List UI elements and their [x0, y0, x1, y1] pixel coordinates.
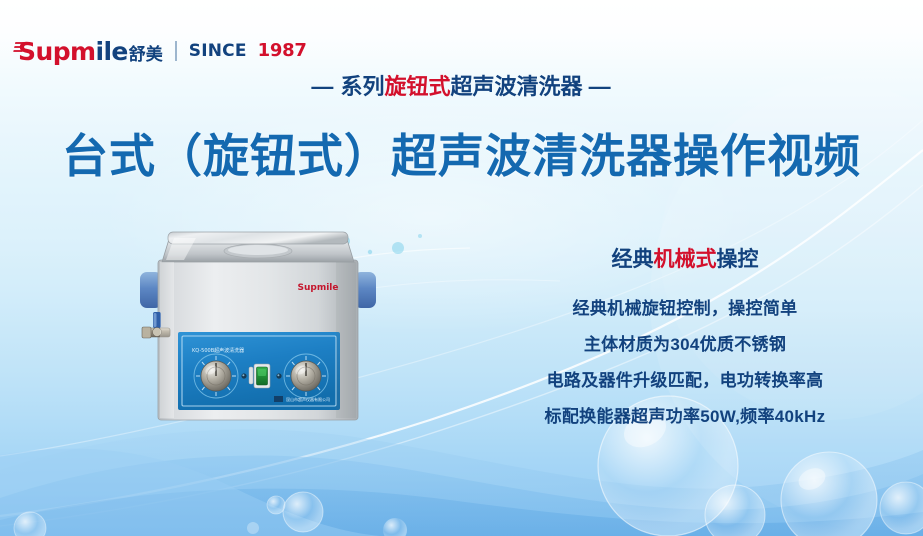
logo-divider [175, 41, 177, 61]
feature-list: 经典机械旋钮控制，操控简单 主体材质为304优质不锈钢 电路及器件升级匹配，电功… [455, 300, 915, 425]
feature-item: 电路及器件升级匹配，电功转换率高 [455, 372, 915, 389]
feature-heading: 经典机械式操控 [470, 249, 900, 270]
feature-item: 标配换能器超声功率50W,频率40kHz [455, 408, 915, 425]
logo-sup-text: upm [36, 39, 96, 64]
subtitle-part-highlight: 旋钮式 [384, 74, 450, 99]
subtitle-part-1: 系列 [340, 74, 384, 99]
logo-mile-text: ile [95, 39, 127, 64]
logo-since-label: SINCE [189, 43, 247, 60]
series-subtitle: — 系列旋钮式超声波清洗器 — [0, 76, 923, 98]
logo-chinese-name: 舒美 [129, 46, 163, 63]
feature-item: 主体材质为304优质不锈钢 [455, 336, 915, 353]
slide-canvas: Supmile舒美 SINCE 1987 — 系列旋钮式超声波清洗器 — 台式（… [0, 0, 923, 536]
product-image-ultrasonic-cleaner: Supmile KQ-500B超声波清洗器 [140, 228, 376, 424]
indicator-led-right [276, 373, 281, 378]
feature-heading-pre: 经典 [612, 248, 654, 271]
panel-footer-text: 昆山市超声仪器有限公司 [286, 396, 330, 402]
product-body-logo: Supmile [298, 283, 339, 293]
subtitle-dash-right: — [589, 74, 612, 99]
logo-since-year: 1987 [258, 42, 307, 60]
subtitle-part-3: 超声波清洗器 [451, 74, 583, 99]
page-title: 台式（旋钮式）超声波清洗器操作视频 [0, 128, 923, 186]
feature-item: 经典机械旋钮控制，操控简单 [455, 300, 915, 317]
feature-heading-post: 操控 [717, 248, 759, 271]
panel-footer-mark [274, 396, 283, 402]
indicator-led-left [241, 373, 246, 378]
panel-model-text: KQ-500B超声波清洗器 [192, 347, 244, 354]
control-panel: KQ-500B超声波清洗器 [178, 332, 340, 410]
subtitle-dash-left: — [311, 74, 334, 99]
logo-wordmark: Supmile舒美 [18, 39, 163, 64]
brand-logo: Supmile舒美 SINCE 1987 [18, 38, 307, 64]
feature-heading-highlight: 机械式 [654, 248, 717, 271]
logo-s-letter: S [18, 39, 36, 64]
